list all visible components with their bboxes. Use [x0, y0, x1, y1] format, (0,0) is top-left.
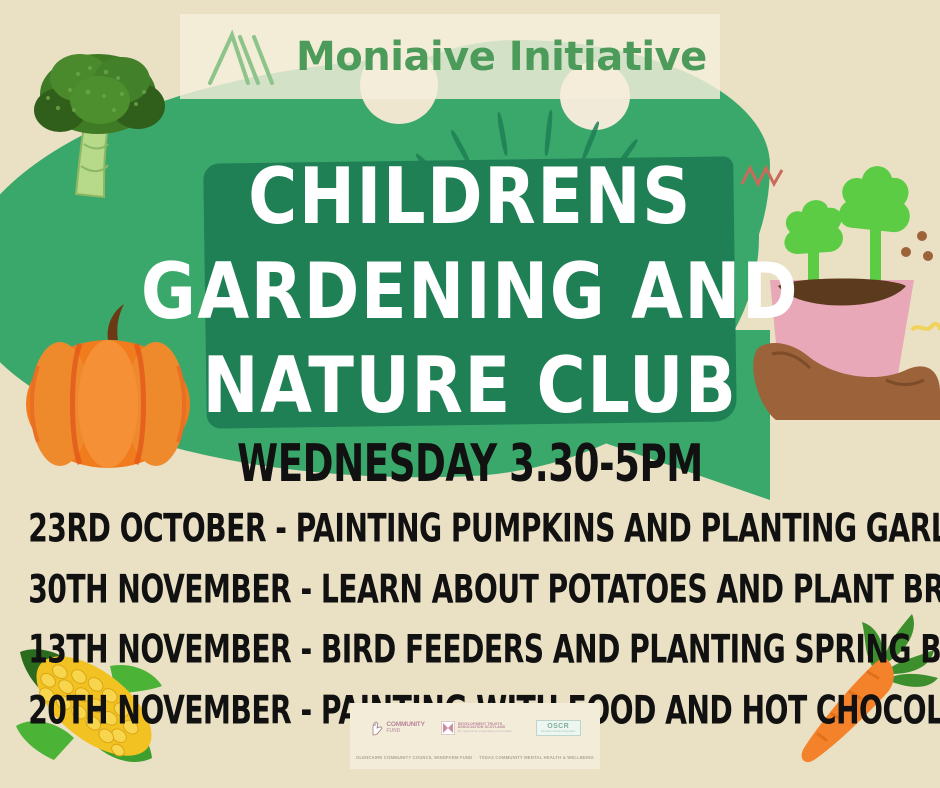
brand-band: Moniaive Initiative: [180, 14, 720, 99]
funder-sub: FUND: [386, 729, 424, 734]
community-fund-logo: COMMUNITY FUND: [369, 720, 424, 736]
headline-line-2: GARDENING AND: [0, 245, 940, 340]
headline-line-3: NATURE CLUB: [0, 340, 940, 435]
page-title: CHILDRENS GARDENING AND NATURE CLUB: [0, 150, 940, 434]
funder-caption-left: GLENCAIRN COMMUNITY COUNCIL WINDFARM FUN…: [356, 755, 472, 760]
funder-caption-right: TSDAS COMMUNITY MENTAL HEALTH & WELLBEIN…: [479, 755, 594, 760]
brand-name: Moniaive Initiative: [296, 34, 707, 80]
crossed-fingers-icon: [369, 720, 383, 736]
headline-line-1: CHILDRENS: [0, 150, 940, 245]
funder-strip: COMMUNITY FUND DEVELOPMENT TRUSTS ASSOCI…: [350, 703, 600, 769]
schedule-row: 23RD OCTOBER - PAINTING PUMPKINS AND PLA…: [28, 500, 912, 560]
oscr-box-icon: OSCR Scottish Charity Regulator: [536, 720, 581, 736]
oscr-logo: OSCR Scottish Charity Regulator: [536, 720, 581, 736]
funder-logo-row: COMMUNITY FUND DEVELOPMENT TRUSTS ASSOCI…: [350, 703, 600, 749]
session-time: WEDNESDAY 3.30-5PM: [33, 434, 907, 494]
dta-scotland-logo: DEVELOPMENT TRUSTS ASSOCIATION SCOTLAND …: [441, 721, 520, 735]
schedule-row: 30TH NOVEMBER - LEARN ABOUT POTATOES AND…: [28, 560, 912, 620]
funder-sub: Scottish Charity Regulator: [541, 730, 576, 733]
funder-sub: the network for enterprising communities: [458, 730, 520, 733]
mountain-lines-logo-icon: [204, 27, 282, 87]
dta-diamond-icon: [441, 721, 455, 735]
schedule-row: 13TH NOVEMBER - BIRD FEEDERS AND PLANTIN…: [28, 621, 912, 681]
funder-caption-row: GLENCAIRN COMMUNITY COUNCIL WINDFARM FUN…: [350, 749, 600, 760]
poster-canvas: Moniaive Initiative CHILDRENS GARDENING …: [0, 0, 940, 788]
